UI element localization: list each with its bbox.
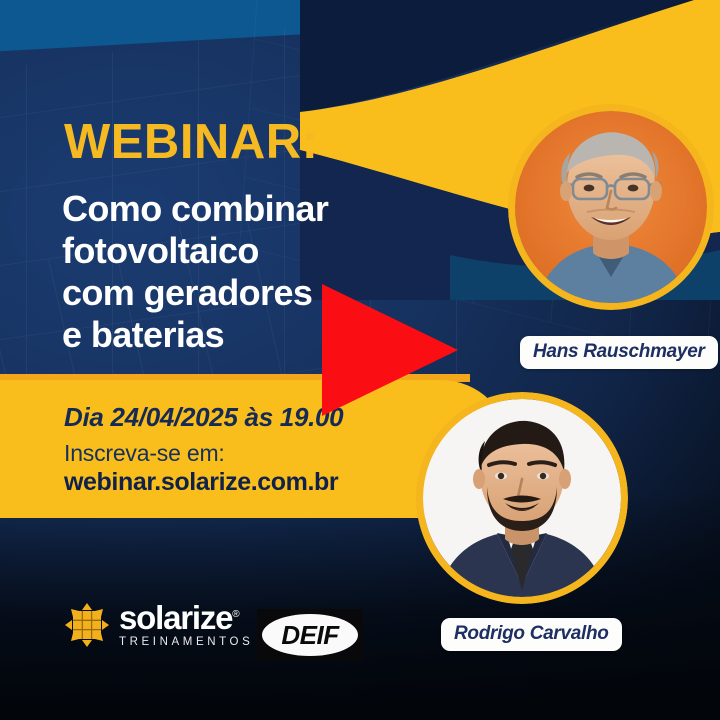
solarize-word: solarize®	[119, 602, 253, 633]
event-date-time: Dia 24/04/2025 às 19.00	[64, 402, 343, 433]
webinar-poster: WEBINAR: Como combinar fotovoltaico com …	[0, 0, 720, 720]
avatar-hans-ring	[508, 104, 714, 310]
deif-ellipse: DEIF	[262, 614, 358, 656]
solarize-word-text: solarize	[119, 599, 232, 636]
play-triangle-icon[interactable]	[322, 284, 458, 416]
registered-mark: ®	[232, 609, 238, 620]
solarize-tagline: TREINAMENTOS	[119, 636, 253, 648]
headline-line-2: fotovoltaico	[62, 230, 442, 272]
deif-wordmark: DEIF	[281, 620, 338, 651]
speaker-name-rodrigo: Rodrigo Carvalho	[441, 618, 622, 651]
page-kicker: WEBINAR:	[64, 118, 318, 167]
avatar-hans	[508, 104, 714, 310]
speaker-name-hans: Hans Rauschmayer	[520, 336, 718, 369]
solar-sun-icon	[64, 602, 110, 648]
avatar-rodrigo	[416, 392, 628, 604]
solarize-wordmark: solarize® TREINAMENTOS	[119, 602, 253, 648]
solarize-logo: solarize® TREINAMENTOS	[64, 602, 253, 648]
signup-label: Inscreva-se em:	[64, 440, 225, 467]
headline-line-1: Como combinar	[62, 188, 442, 230]
avatar-rodrigo-ring	[416, 392, 628, 604]
registration-url[interactable]: webinar.solarize.com.br	[64, 468, 338, 497]
deif-logo: DEIF	[257, 609, 363, 661]
